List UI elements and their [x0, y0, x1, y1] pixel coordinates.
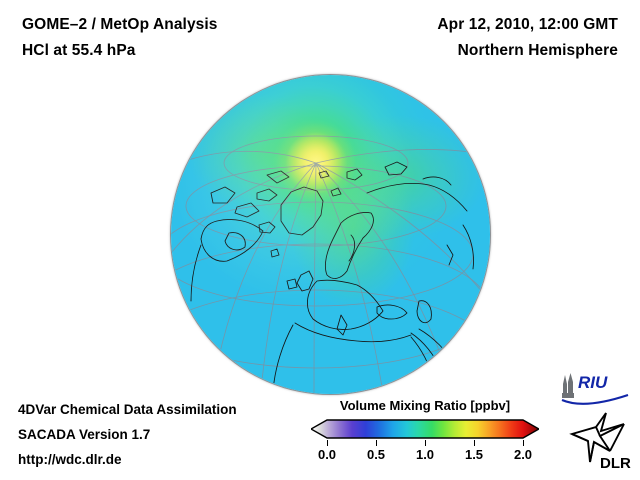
dlr-logo: DLR: [566, 410, 632, 472]
riu-wordmark: RIU: [578, 373, 608, 392]
colorbar: Volume Mixing Ratio [ppbv]: [311, 398, 539, 464]
colorbar-tick-label: 1.0: [416, 447, 434, 462]
credit-line-method: 4DVar Chemical Data Assimilation: [18, 402, 237, 417]
colorbar-bar: [311, 418, 539, 440]
colorbar-tick-label: 0.5: [367, 447, 385, 462]
page-title-species: HCl at 55.4 hPa: [22, 42, 136, 60]
globe-limb-shading: [171, 75, 490, 394]
colorbar-tick-label: 2.0: [514, 447, 532, 462]
credit-line-url[interactable]: http://wdc.dlr.de: [18, 452, 122, 467]
colorbar-ticks: [311, 440, 539, 446]
colorbar-tick-label: 1.5: [465, 447, 483, 462]
colorbar-tick-label: 0.0: [318, 447, 336, 462]
colorbar-tick-labels: 0.0 0.5 1.0 1.5 2.0: [311, 447, 539, 464]
riu-logo: RIU: [558, 371, 632, 405]
page-title-instrument: GOME–2 / MetOp Analysis: [22, 16, 218, 34]
globe-sphere: [171, 75, 490, 394]
hemisphere-label: Northern Hemisphere: [458, 42, 618, 60]
analysis-datetime: Apr 12, 2010, 12:00 GMT: [437, 16, 618, 34]
dlr-wordmark: DLR: [600, 455, 631, 472]
colorbar-title: Volume Mixing Ratio [ppbv]: [311, 398, 539, 413]
credit-line-version: SACADA Version 1.7: [18, 427, 150, 442]
globe-visualization: [171, 75, 490, 394]
riu-cathedral-icon: [562, 373, 574, 398]
colorbar-gradient: [311, 418, 539, 440]
